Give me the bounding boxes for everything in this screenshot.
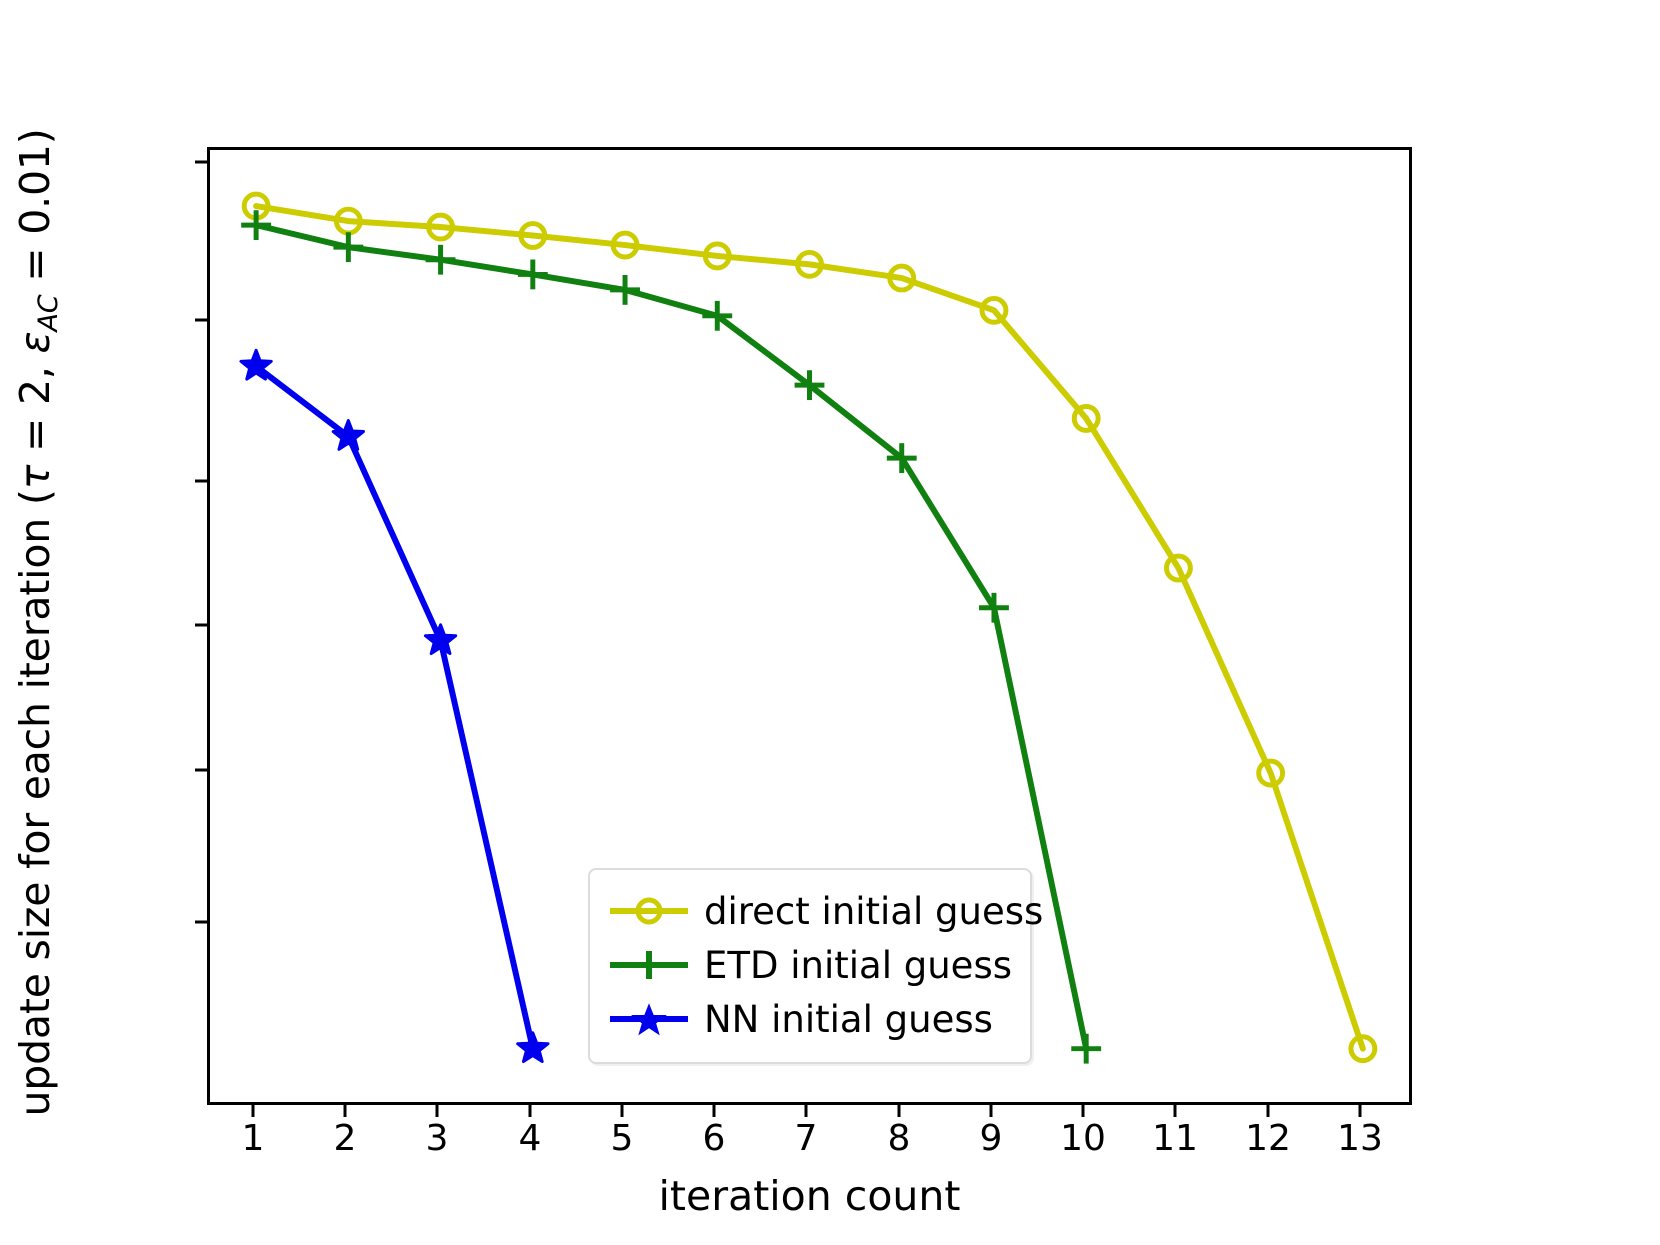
y-tick-mark — [195, 161, 207, 164]
legend: direct initial guess ETD initial guess N… — [588, 868, 1032, 1064]
legend-item-nn[interactable]: NN initial guess — [608, 992, 1012, 1046]
data-point-marker — [426, 245, 456, 275]
data-point-marker — [333, 232, 363, 262]
x-tick-mark — [344, 1105, 347, 1117]
x-tick-label-7: 7 — [795, 1118, 818, 1159]
y-axis-label-text: update size for each iteration (τ = 2, ε… — [11, 128, 59, 1116]
figure-root: update size for each iteration (τ = 2, ε… — [0, 0, 1660, 1245]
data-point-marker — [610, 275, 640, 305]
x-tick-label-1: 1 — [242, 1118, 265, 1159]
x-tick-label-6: 6 — [703, 1118, 726, 1159]
series-nn — [241, 350, 548, 1061]
y-axis-label: update size for each iteration (τ = 2, ε… — [0, 0, 70, 1245]
x-tick-mark — [805, 1105, 808, 1117]
x-tick-mark — [713, 1105, 716, 1117]
x-tick-mark — [990, 1105, 993, 1117]
x-tick-mark — [898, 1105, 901, 1117]
data-point-marker — [1071, 1034, 1101, 1064]
y-tick-mark — [195, 480, 207, 483]
y-tick-mark — [195, 624, 207, 627]
x-axis-label: iteration count — [207, 1172, 1412, 1220]
x-tick-mark — [1267, 1105, 1270, 1117]
x-tick-mark — [1082, 1105, 1085, 1117]
legend-item-direct[interactable]: direct initial guess — [608, 884, 1012, 938]
tau-symbol: τ — [11, 465, 59, 489]
x-tick-mark — [621, 1105, 624, 1117]
x-tick-label-2: 2 — [334, 1118, 357, 1159]
data-point-marker — [518, 260, 548, 290]
x-tick-label-12: 12 — [1245, 1118, 1291, 1159]
y-tick-mark — [195, 921, 207, 924]
legend-marker-star-icon — [608, 999, 690, 1039]
legend-item-etd[interactable]: ETD initial guess — [608, 938, 1012, 992]
x-tick-label-13: 13 — [1337, 1118, 1383, 1159]
legend-marker-circle-icon — [608, 891, 690, 931]
data-point-marker — [979, 593, 1009, 623]
x-tick-label-11: 11 — [1152, 1118, 1198, 1159]
legend-marker-plus-icon — [608, 945, 690, 985]
x-tick-mark — [436, 1105, 439, 1117]
x-tick-label-3: 3 — [426, 1118, 449, 1159]
x-tick-label-5: 5 — [611, 1118, 634, 1159]
x-tick-mark — [1359, 1105, 1362, 1117]
x-tick-label-10: 10 — [1060, 1118, 1106, 1159]
x-tick-label-9: 9 — [980, 1118, 1003, 1159]
legend-label-direct: direct initial guess — [704, 893, 1043, 930]
epsilon-symbol: ε — [11, 332, 59, 354]
x-tick-label-4: 4 — [519, 1118, 542, 1159]
legend-label-etd: ETD initial guess — [704, 947, 1012, 984]
epsilon-subscript: AC — [33, 295, 64, 332]
y-tick-mark — [195, 769, 207, 772]
x-tick-mark — [1174, 1105, 1177, 1117]
y-tick-mark — [195, 319, 207, 322]
data-point-marker — [518, 1033, 548, 1062]
legend-label-nn: NN initial guess — [704, 1001, 993, 1038]
x-tick-label-8: 8 — [888, 1118, 911, 1159]
x-tick-mark — [252, 1105, 255, 1117]
series-line — [256, 366, 533, 1048]
x-tick-mark — [529, 1105, 532, 1117]
